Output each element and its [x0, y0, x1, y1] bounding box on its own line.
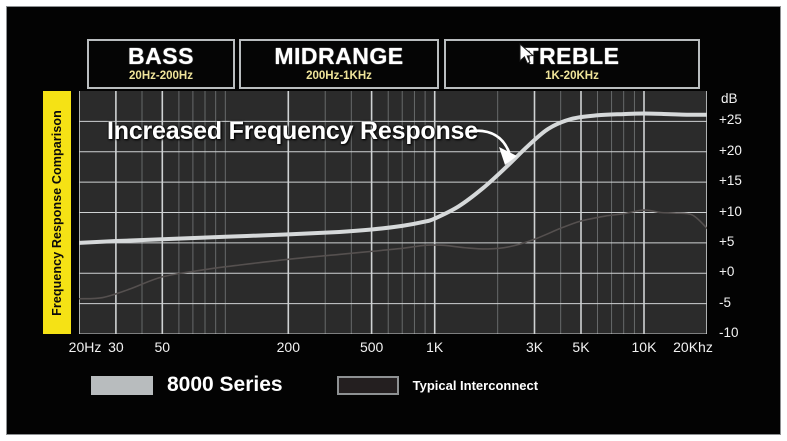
- legend-swatch-typical-interconnect: [337, 376, 399, 395]
- legend-label-8000-series: 8000 Series: [167, 373, 283, 397]
- y-axis-tick-label: +5: [719, 234, 734, 249]
- legend-entry-8000-series: 8000 Series: [91, 373, 283, 397]
- x-axis-tick-label: 20Khz: [673, 339, 713, 355]
- y-axis-tick-label: +20: [719, 143, 742, 158]
- x-axis-tick-label: 50: [155, 339, 171, 355]
- x-axis-tick-label: 200: [277, 339, 300, 355]
- vertical-axis-title-text: Frequency Response Comparison: [50, 110, 64, 316]
- band-title-bass: BASS: [128, 45, 194, 68]
- band-range-midrange: 200Hz-1KHz: [306, 71, 372, 83]
- band-header-bass: BASS 20Hz-200Hz: [87, 39, 235, 89]
- y-axis-tick-label: +0: [719, 264, 734, 279]
- x-axis-tick-label: 30: [108, 339, 124, 355]
- band-range-bass: 20Hz-200Hz: [129, 71, 193, 83]
- x-axis-tick-label: 10K: [632, 339, 657, 355]
- y-axis-tick-label: +15: [719, 173, 742, 188]
- legend-swatch-8000-series: [91, 376, 153, 395]
- band-header-treble: TREBLE 1K-20KHz: [444, 39, 700, 89]
- x-axis-tick-label: 3K: [526, 339, 543, 355]
- band-title-midrange: MIDRANGE: [274, 45, 403, 68]
- y-axis-tick-label: +25: [719, 112, 742, 127]
- band-header-midrange: MIDRANGE 200Hz-1KHz: [239, 39, 439, 89]
- chart-frame: BASS 20Hz-200Hz MIDRANGE 200Hz-1KHz TREB…: [6, 6, 781, 435]
- x-axis-tick-label: 1K: [426, 339, 443, 355]
- band-range-treble: 1K-20KHz: [545, 71, 599, 83]
- legend-entry-typical-interconnect: Typical Interconnect: [337, 376, 538, 395]
- legend-label-typical-interconnect: Typical Interconnect: [413, 378, 538, 393]
- chart-legend: 8000 Series Typical Interconnect: [91, 373, 538, 397]
- x-axis-tick-label: 500: [360, 339, 383, 355]
- band-title-treble: TREBLE: [525, 45, 620, 68]
- vertical-axis-title: Frequency Response Comparison: [43, 91, 71, 334]
- x-axis-tick-label: 20Hz: [69, 339, 102, 355]
- series-line-typical-interconnect: [79, 210, 707, 299]
- y-axis-tick-label: +10: [719, 204, 742, 219]
- annotation-label: Increased Frequency Response: [107, 117, 478, 146]
- y-axis-tick-label: -10: [719, 325, 739, 340]
- y-axis-tick-label: -5: [719, 295, 731, 310]
- y-axis-unit: dB: [721, 91, 738, 106]
- x-axis-tick-label: 5K: [572, 339, 589, 355]
